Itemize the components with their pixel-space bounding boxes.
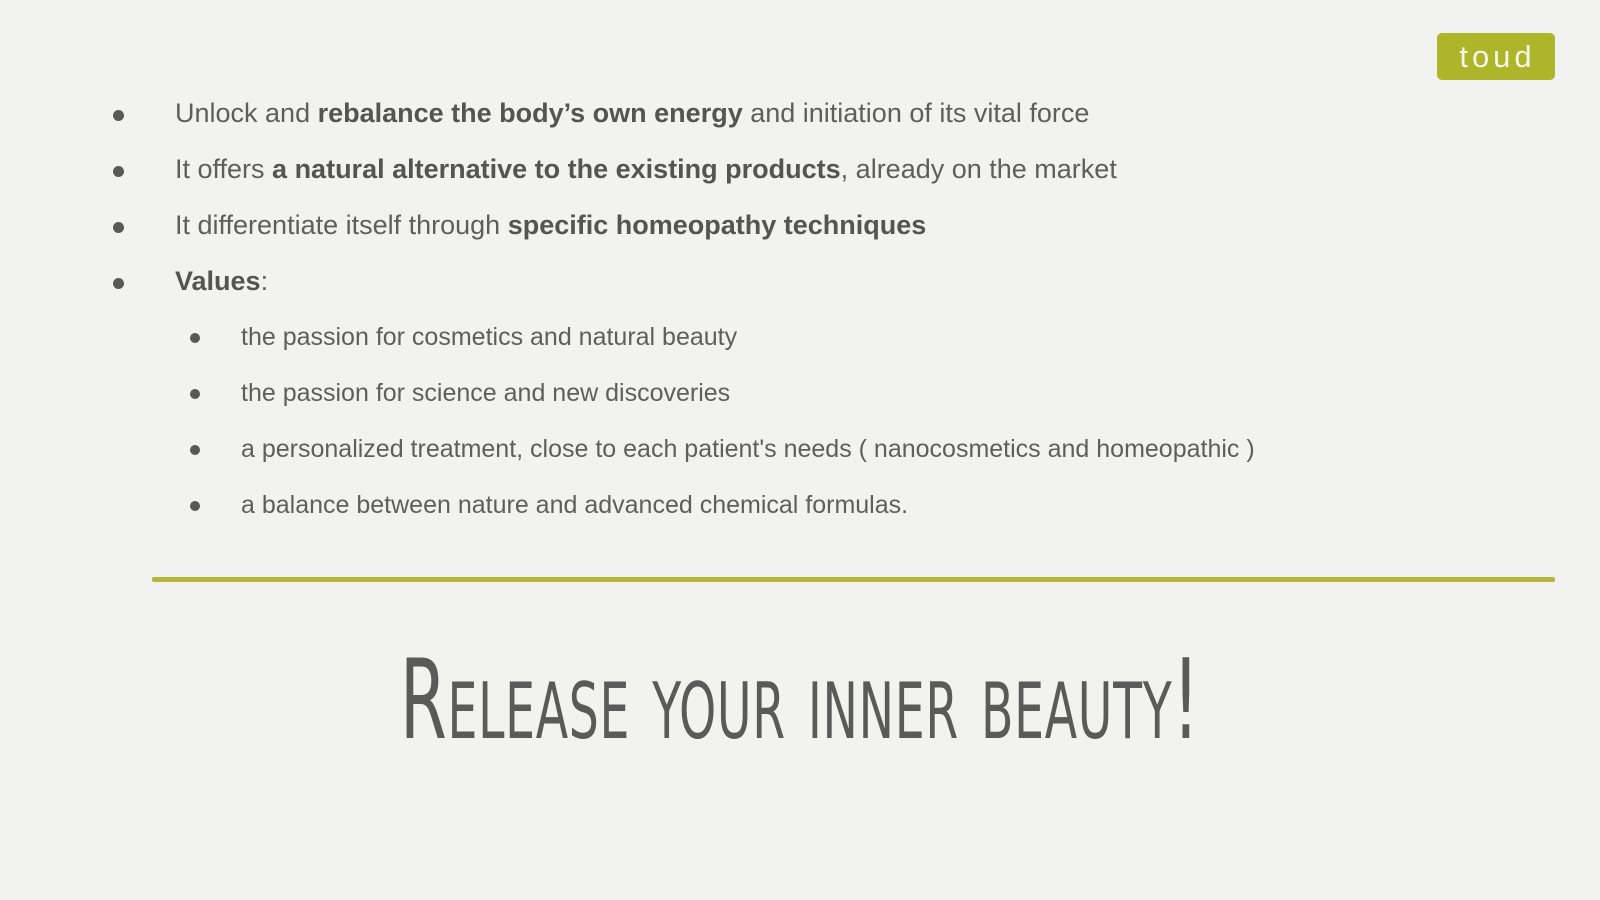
bullet-list: Unlock and rebalance the body’s own ener… — [0, 96, 1600, 544]
bullet-text-plain: , already on the market — [841, 154, 1117, 184]
bullet-text-plain: a personalized treatment, close to each … — [241, 435, 1255, 463]
bullet-text-plain: : — [261, 266, 269, 296]
bullet-text-plain: Unlock and — [175, 98, 318, 128]
bullet-text-emphasis: Values — [175, 266, 261, 296]
bullet-item: a personalized treatment, close to each … — [0, 432, 1600, 488]
horizontal-divider — [152, 577, 1555, 582]
bullet-dot-icon — [113, 110, 124, 121]
logo-text: toud — [1456, 41, 1535, 72]
bullet-text: Values: — [175, 264, 268, 298]
bullet-text: It differentiate itself through specific… — [175, 208, 926, 242]
bullet-dot-icon — [113, 278, 124, 289]
bullet-text: Unlock and rebalance the body’s own ener… — [175, 96, 1089, 130]
bullet-text-emphasis: specific homeopathy techniques — [508, 210, 927, 240]
bullet-item: It offers a natural alternative to the e… — [0, 152, 1600, 208]
bullet-item: a balance between nature and advanced ch… — [0, 488, 1600, 544]
bullet-text-plain: the passion for science and new discover… — [241, 379, 730, 407]
bullet-dot-icon — [190, 333, 200, 343]
bullet-text-emphasis: rebalance the body’s own energy — [318, 98, 743, 128]
bullet-text-plain: It offers — [175, 154, 272, 184]
bullet-text-plain: the passion for cosmetics and natural be… — [241, 323, 737, 351]
bullet-item: Unlock and rebalance the body’s own ener… — [0, 96, 1600, 152]
bullet-text: the passion for cosmetics and natural be… — [241, 320, 737, 354]
bullet-item: the passion for cosmetics and natural be… — [0, 320, 1600, 376]
bullet-text-plain: and initiation of its vital force — [743, 98, 1090, 128]
tagline-heading: Release your inner beauty! — [224, 636, 1376, 763]
logo-badge: toud — [1437, 33, 1555, 80]
bullet-item: It differentiate itself through specific… — [0, 208, 1600, 264]
bullet-dot-icon — [190, 445, 200, 455]
bullet-text: a balance between nature and advanced ch… — [241, 488, 908, 522]
bullet-text-emphasis: a natural alternative to the existing pr… — [272, 154, 841, 184]
bullet-dot-icon — [190, 501, 200, 511]
bullet-text: the passion for science and new discover… — [241, 376, 730, 410]
bullet-item: Values: — [0, 264, 1600, 320]
bullet-text: It offers a natural alternative to the e… — [175, 152, 1117, 186]
bullet-text-plain: a balance between nature and advanced ch… — [241, 491, 908, 519]
bullet-dot-icon — [113, 222, 124, 233]
bullet-text: a personalized treatment, close to each … — [241, 432, 1255, 466]
bullet-text-plain: It differentiate itself through — [175, 210, 508, 240]
bullet-dot-icon — [113, 166, 124, 177]
bullet-item: the passion for science and new discover… — [0, 376, 1600, 432]
bullet-dot-icon — [190, 389, 200, 399]
